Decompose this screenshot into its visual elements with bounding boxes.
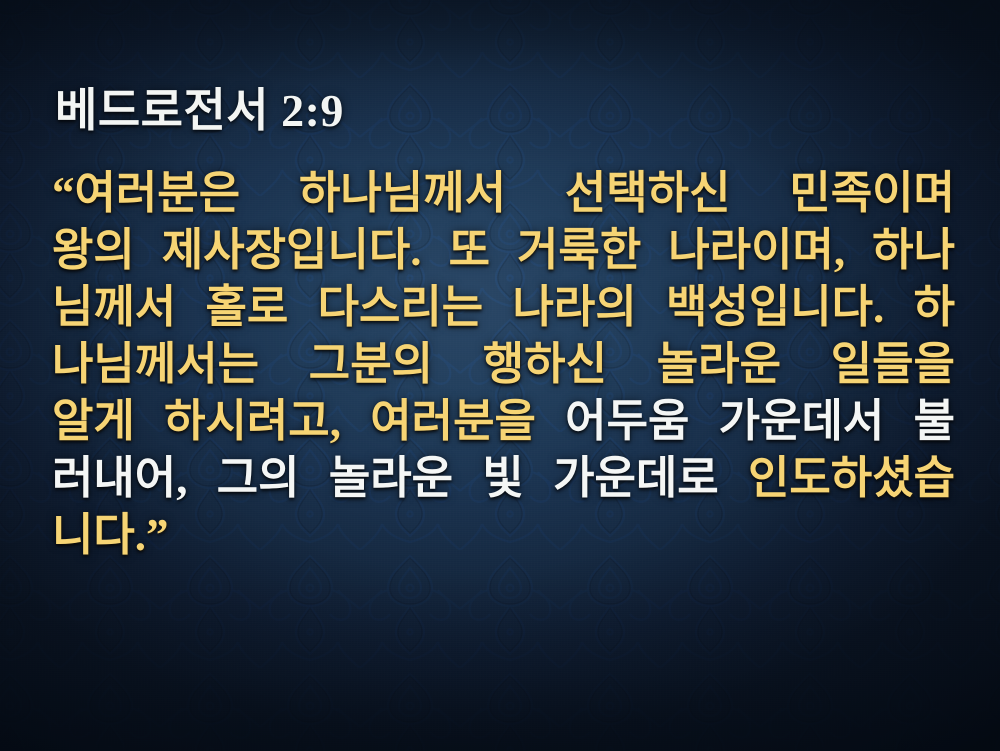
verse-word: 하 (914, 270, 955, 335)
verse-word: 어두움 (565, 384, 689, 449)
verse-word: 홀로 (206, 270, 289, 335)
page-title: 베드로전서 2:9 (55, 74, 344, 140)
verse-line: “여러분은하나님께서선택하신민족이며 (52, 160, 955, 217)
verse-word: 니다.” (52, 498, 169, 563)
verse-line: 님께서홀로다스리는나라의백성입니다.하 (52, 274, 955, 331)
verse-word: “여러분은 (52, 156, 240, 221)
verse-word: 하나 (872, 213, 955, 278)
verse-word: 일들을 (831, 327, 955, 392)
verse-word: 가운데로 (553, 441, 719, 506)
verse-word: 민족이며 (789, 156, 955, 221)
verse-line: 나님께서는그분의행하신놀라운일들을 (52, 331, 955, 388)
verse-text-block: “여러분은하나님께서선택하신민족이며왕의제사장입니다.또거룩한나라이며,하나님께… (52, 160, 955, 559)
verse-word: 나라이며, (668, 213, 845, 278)
verse-word: 불 (914, 384, 955, 449)
verse-word: 여러분을 (370, 384, 536, 449)
verse-word: 인도하셨습 (748, 441, 955, 506)
verse-word: 님께서 (52, 270, 176, 335)
verse-word: 또 (449, 213, 490, 278)
verse-word: 러내어, (52, 441, 187, 506)
verse-word: 제사장입니다. (162, 213, 422, 278)
scripture-slide: 베드로전서 2:9 “여러분은하나님께서선택하신민족이며왕의제사장입니다.또거룩… (0, 0, 1000, 751)
verse-word: 그분의 (309, 327, 433, 392)
verse-word: 다스리는 (318, 270, 484, 335)
verse-word: 하나님께서 (299, 156, 506, 221)
verse-line: 알게하시려고,여러분을어두움가운데서불 (52, 388, 955, 445)
verse-word: 알게 (52, 384, 135, 449)
verse-word: 그의 (217, 441, 300, 506)
verse-word: 선택하신 (565, 156, 731, 221)
verse-word: 놀라운 (657, 327, 781, 392)
verse-line: 왕의제사장입니다.또거룩한나라이며,하나 (52, 217, 955, 274)
verse-word: 가운데서 (719, 384, 885, 449)
verse-word: 놀라운 (329, 441, 453, 506)
verse-word: 행하신 (483, 327, 607, 392)
verse-word: 거룩한 (517, 213, 641, 278)
verse-word: 백성입니다. (666, 270, 884, 335)
verse-word: 하시려고, (164, 384, 341, 449)
verse-word: 나님께서는 (52, 327, 259, 392)
verse-line: 러내어,그의놀라운빛가운데로인도하셨습 (52, 445, 955, 502)
slide-content: 베드로전서 2:9 “여러분은하나님께서선택하신민족이며왕의제사장입니다.또거룩… (0, 0, 1000, 751)
verse-line: 니다.” (52, 502, 955, 559)
verse-word: 왕의 (52, 213, 135, 278)
verse-word: 나라의 (513, 270, 637, 335)
verse-word: 빛 (482, 441, 523, 506)
